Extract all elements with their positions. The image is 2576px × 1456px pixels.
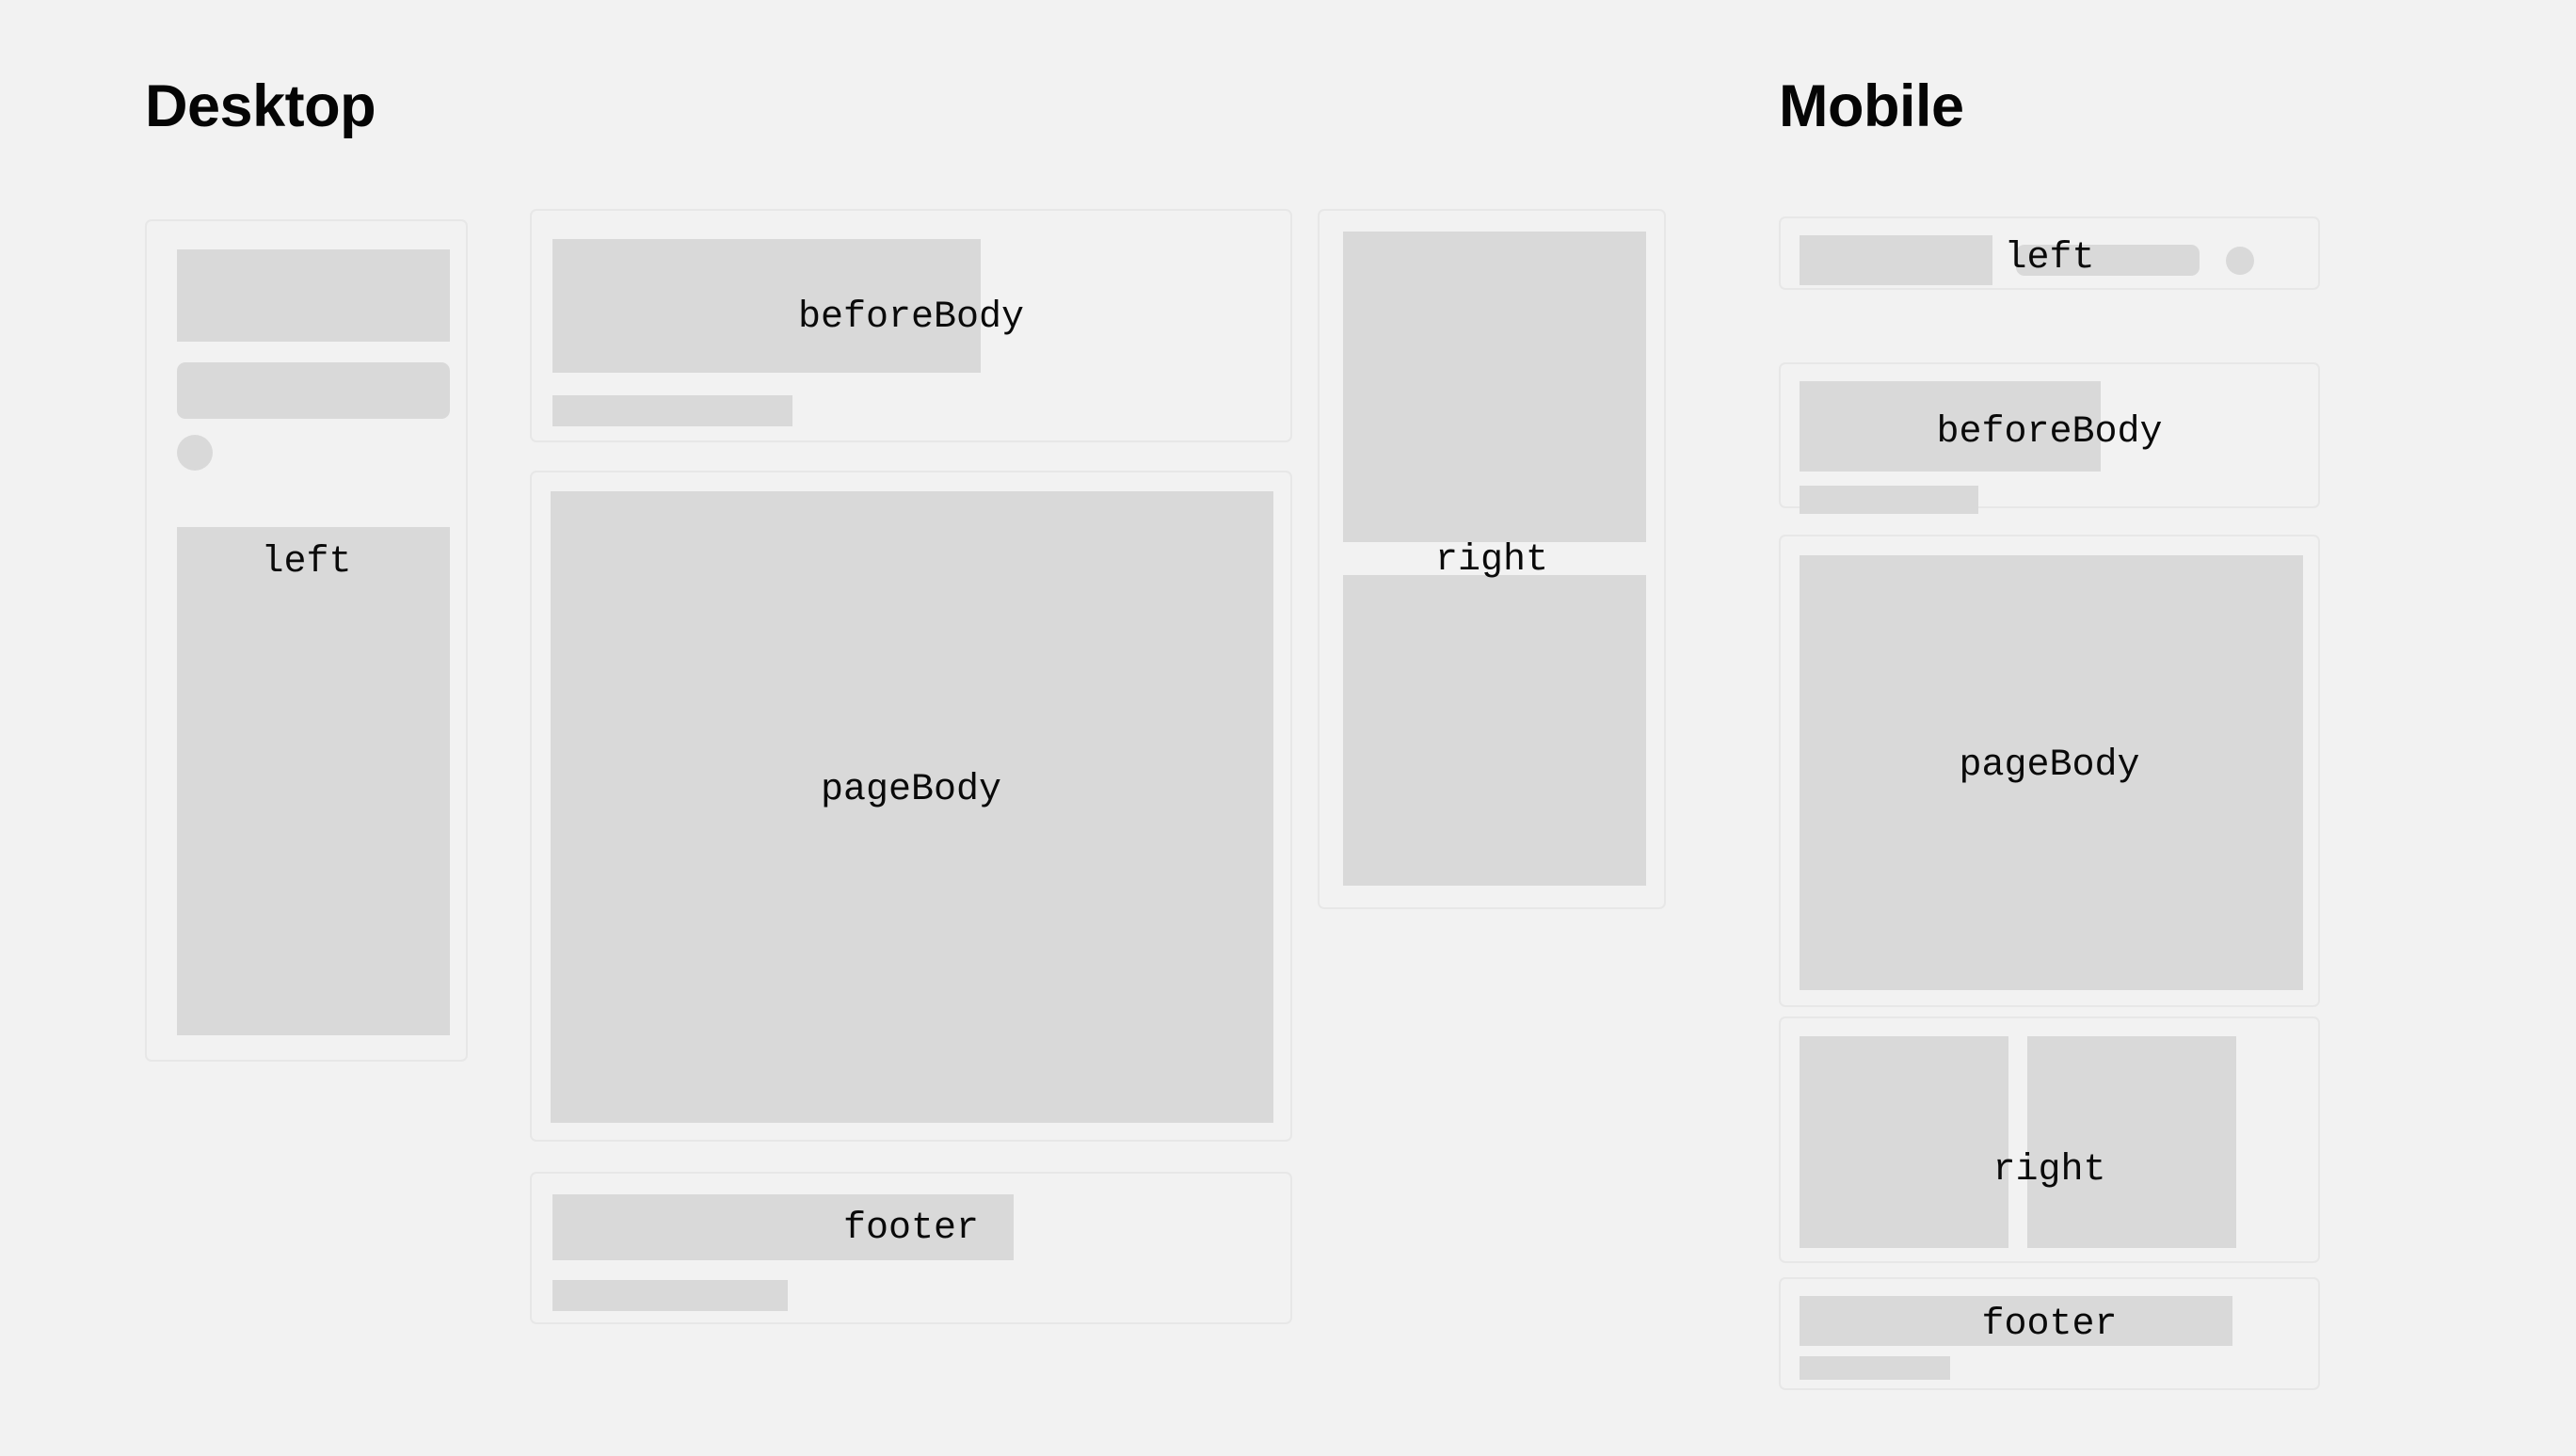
placeholder-block-small — [552, 395, 792, 426]
placeholder-block — [1800, 1296, 2232, 1346]
placeholder-avatar-circle — [2226, 247, 2254, 275]
layout-skeleton-preview: { "colors": { "page_background": "#f2f2f… — [0, 0, 2576, 1456]
desktop-left-slot-card[interactable] — [145, 219, 468, 1062]
placeholder-block — [1800, 381, 2101, 472]
desktop-section-title: Desktop — [145, 77, 376, 136]
mobile-section-title: Mobile — [1779, 77, 1964, 136]
mobile-footer-slot-card[interactable] — [1779, 1277, 2320, 1390]
placeholder-block — [552, 1194, 1014, 1260]
placeholder-block-large — [1800, 555, 2303, 990]
desktop-page-body-slot-card[interactable] — [530, 471, 1292, 1142]
placeholder-block-large — [551, 491, 1273, 1123]
placeholder-block-small — [1800, 486, 1978, 514]
mobile-right-slot-card[interactable] — [1779, 1016, 2320, 1263]
mobile-page-body-slot-card[interactable] — [1779, 535, 2320, 1007]
placeholder-block — [1800, 235, 1992, 285]
placeholder-block — [1800, 1036, 2008, 1248]
desktop-before-body-slot-card[interactable] — [530, 209, 1292, 442]
placeholder-block — [1343, 575, 1646, 886]
mobile-left-slot-card[interactable] — [1779, 216, 2320, 290]
placeholder-pill — [2016, 245, 2200, 276]
placeholder-block-small — [552, 1280, 788, 1311]
placeholder-block — [1343, 232, 1646, 542]
mobile-before-body-slot-card[interactable] — [1779, 362, 2320, 508]
placeholder-block — [552, 239, 981, 373]
placeholder-block — [2027, 1036, 2236, 1248]
placeholder-block-small — [1800, 1356, 1950, 1380]
placeholder-avatar-circle — [177, 435, 213, 471]
placeholder-pill — [177, 362, 450, 419]
placeholder-block — [177, 249, 450, 342]
desktop-right-slot-card[interactable] — [1318, 209, 1666, 909]
placeholder-block-large — [177, 527, 450, 1035]
desktop-footer-slot-card[interactable] — [530, 1172, 1292, 1324]
